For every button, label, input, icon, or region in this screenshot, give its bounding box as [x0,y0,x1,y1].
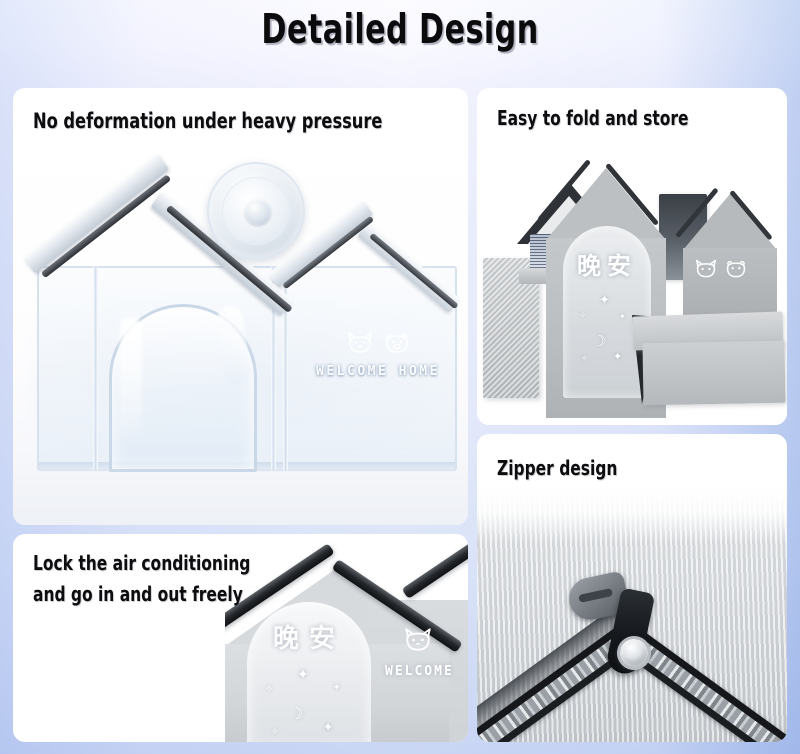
page-title: Detailed Design [261,5,538,53]
star-icon: ✦ [613,350,622,363]
panel-no-deformation: No deformation under heavy pressure [13,88,468,525]
label-line-1: Lock the air conditioning [33,548,250,579]
star-icon: ✧ [265,684,273,695]
moon-icon: ☽ [593,332,606,350]
star-icon: ✦ [333,682,341,693]
cat-face-icon [345,330,375,356]
panel-zipper-design: Zipper design [477,434,787,742]
folded-house-right [679,194,781,319]
goodnight-text: 晚安 [565,246,649,281]
panel-easy-to-fold: Easy to fold and store [477,88,787,425]
photo-zipper-macro [477,434,787,742]
round-knob-icon [207,162,305,260]
label-line-2: and go in and out freely [33,579,250,610]
photo-acrylic-house: WELCOME HOME [13,88,468,525]
welcome-home-graphic: WELCOME HOME [303,330,453,379]
star-moon-decor: ✦ ✧ ✦ ☽ ✦ ✧ [249,664,369,742]
dog-face-icon [724,258,748,280]
star-icon: ✦ [297,666,309,683]
moon-icon: ☽ [289,704,303,724]
welcome-home-text: WELCOME HOME [303,364,453,379]
panel-label-lock-air-conditioning: Lock the air conditioning and go in and … [33,548,250,610]
folded-slab-lower [642,341,785,405]
star-icon: ✧ [579,310,587,321]
welcome-text: WELCOME [385,664,454,679]
infographic-page: Detailed Design No deformation under hea… [0,0,800,754]
cat-face-icon [401,626,435,654]
star-icon: ✦ [599,292,610,308]
star-icon: ✦ [323,720,333,734]
dog-face-icon [383,330,411,356]
star-icon: ✧ [271,726,279,737]
panel-label-zipper-design: Zipper design [497,456,617,480]
cat-face-icon [693,258,719,280]
panel-label-easy-to-fold: Easy to fold and store [497,106,689,130]
panel-lock-air-conditioning: Lock the air conditioning and go in and … [13,534,468,742]
photo-folded-panels: 晚安 ✦ ✧ ✦ ☽ ✦ ✧ [477,88,787,425]
star-icon: ✦ [619,312,626,321]
header: Detailed Design [0,0,800,58]
panel-label-no-deformation: No deformation under heavy pressure [33,109,382,133]
goodnight-text: 晚安 [249,618,369,655]
star-icon: ✧ [581,354,588,363]
